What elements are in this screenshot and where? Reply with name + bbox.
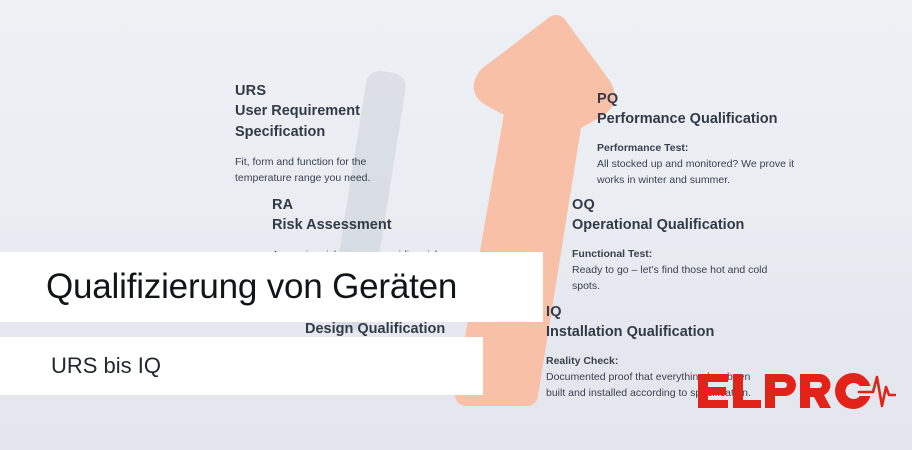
slide-canvas: URS User Requirement Specification Fit, … [0, 0, 912, 450]
logo-letter-e [698, 374, 728, 408]
stage-body-pq: All stocked up and monitored? We prove i… [597, 157, 812, 189]
stage-title-urs: User Requirement Specification [235, 101, 415, 143]
page-subtitle: URS bis IQ [51, 353, 161, 379]
stage-block-oq: OQ Operational Qualification Functional … [572, 196, 787, 294]
elpro-logo [696, 368, 896, 416]
stage-block-urs: URS User Requirement Specification Fit, … [235, 82, 415, 187]
logo-letter-p [765, 374, 796, 408]
stage-lead-pq: Performance Test: [597, 141, 812, 157]
stage-abbr-urs: URS [235, 82, 415, 100]
subtitle-banner: URS bis IQ [0, 337, 483, 395]
stage-lead-oq: Functional Test: [572, 247, 787, 263]
stage-title-ra: Risk Assessment [272, 215, 452, 236]
logo-letter-r [800, 374, 831, 408]
stage-body-urs: Fit, form and function for the temperatu… [235, 155, 415, 187]
stage-body-oq: Ready to go – let’s find those hot and c… [572, 263, 787, 295]
stage-title-pq: Performance Qualification [597, 109, 812, 130]
page-title: Qualifizierung von Geräten [46, 267, 457, 307]
stage-abbr-oq: OQ [572, 196, 787, 214]
stage-block-pq: PQ Performance Qualification Performance… [597, 90, 812, 188]
stage-title-oq: Operational Qualification [572, 215, 787, 236]
logo-letter-l [733, 374, 761, 408]
title-banner: Qualifizierung von Geräten [0, 252, 543, 322]
stage-abbr-pq: PQ [597, 90, 812, 108]
stage-abbr-iq: IQ [546, 303, 761, 321]
stage-title-iq: Installation Qualification [546, 322, 761, 343]
stage-abbr-ra: RA [272, 196, 452, 214]
